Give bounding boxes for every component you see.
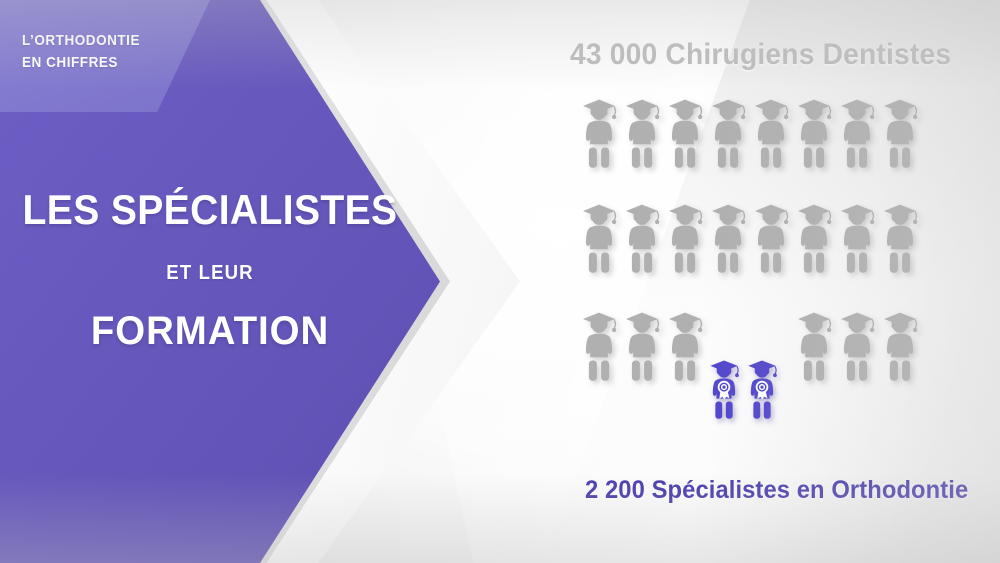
eyebrow-line-2: EN CHIFFRES: [22, 52, 193, 74]
total-dentists-label: 43 000 Chirugiens Dentistes: [570, 38, 927, 72]
orthodontists-label: 2 200 Spécialistes en Orthodontie: [585, 476, 965, 505]
headline-line-2: ET LEUR: [15, 262, 406, 285]
infographic-slide: L’ORTHODONTIE EN CHIFFRES LES SPÉCIALIST…: [0, 0, 1000, 563]
headline-line-1: LES SPÉCIALISTES: [15, 186, 406, 234]
eyebrow-text: L’ORTHODONTIE EN CHIFFRES: [22, 30, 193, 74]
headline-block: LES SPÉCIALISTES ET LEUR FORMATION: [0, 186, 420, 354]
eyebrow-line-1: L’ORTHODONTIE: [22, 30, 193, 52]
headline-line-3: FORMATION: [8, 309, 411, 354]
